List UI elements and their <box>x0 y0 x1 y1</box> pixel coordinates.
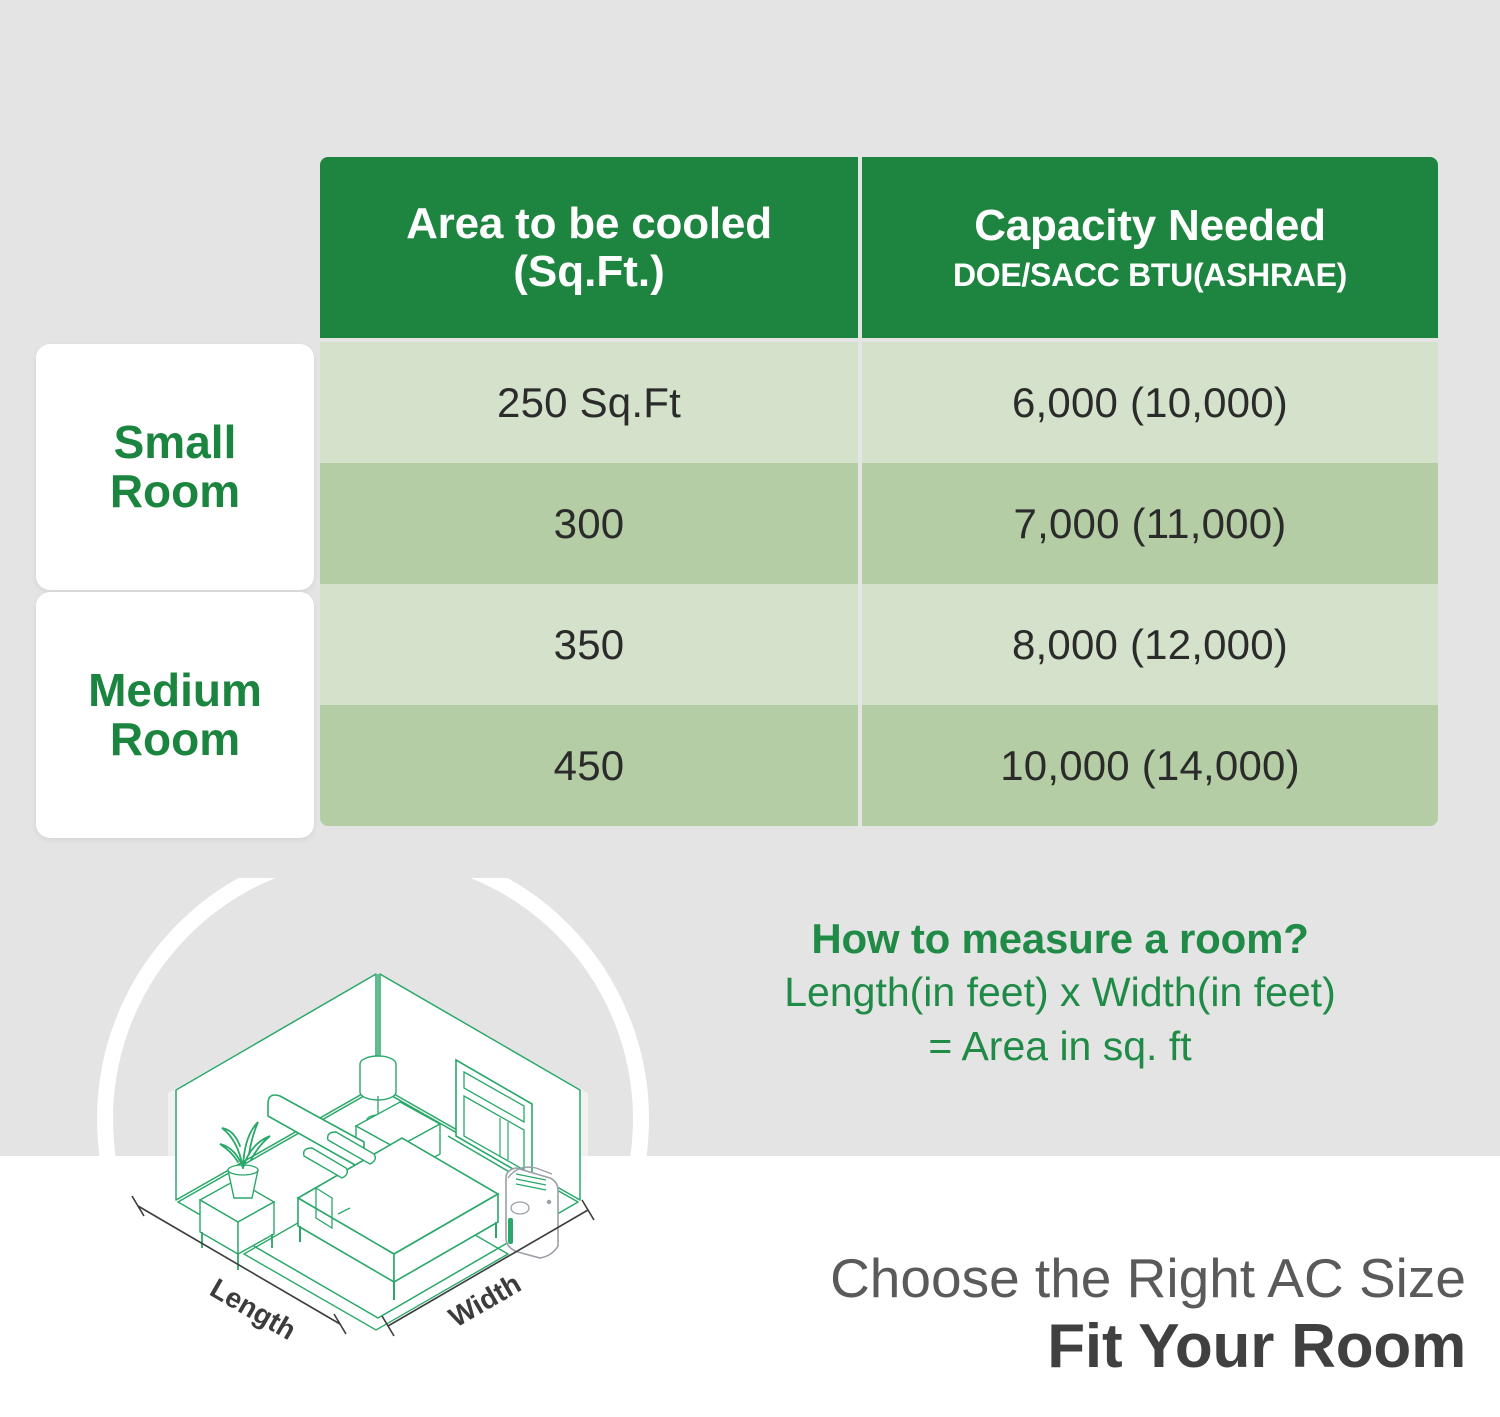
table-header-capacity: Capacity Needed DOE/SACC BTU(ASHRAE) <box>862 157 1438 338</box>
table-header-row: Area to be cooled (Sq.Ft.) Capacity Need… <box>320 157 1438 338</box>
room-type-label-small: Small Room <box>110 418 240 516</box>
headline-top: Choose the Right AC Size <box>0 1250 1466 1308</box>
cell-capacity: 7,000 (11,000) <box>862 463 1438 584</box>
room-type-small-line2: Room <box>110 465 240 517</box>
measure-formula-line1: Length(in feet) x Width(in feet) <box>660 967 1460 1017</box>
lamp-shade-body <box>360 1064 396 1100</box>
room-type-small-line1: Small <box>114 416 237 468</box>
table-row: 250 Sq.Ft 6,000 (10,000) <box>320 342 1438 463</box>
measure-title: How to measure a room? <box>660 915 1460 963</box>
room-type-medium-line1: Medium <box>88 664 262 716</box>
table-body: 250 Sq.Ft 6,000 (10,000) 300 7,000 (11,0… <box>320 342 1438 826</box>
portable-ac-button <box>547 1200 551 1204</box>
table-row: 350 8,000 (12,000) <box>320 584 1438 705</box>
cell-capacity: 6,000 (10,000) <box>862 342 1438 463</box>
room-type-medium-line2: Room <box>110 713 240 765</box>
cell-area: 250 Sq.Ft <box>320 342 858 463</box>
table-row: 450 10,000 (14,000) <box>320 705 1438 826</box>
measure-formula-line2: = Area in sq. ft <box>660 1021 1460 1071</box>
cell-capacity: 8,000 (12,000) <box>862 584 1438 705</box>
headline-bottom: Fit Your Room <box>0 1314 1466 1381</box>
capacity-table: Area to be cooled (Sq.Ft.) Capacity Need… <box>320 157 1438 826</box>
room-type-card-medium: Medium Room <box>36 592 314 838</box>
table-header-area-line1: Area to be cooled <box>406 200 772 248</box>
room-type-label-medium: Medium Room <box>88 666 262 764</box>
cell-area: 450 <box>320 705 858 826</box>
measure-instructions: How to measure a room? Length(in feet) x… <box>660 915 1460 1071</box>
portable-ac-indicator <box>508 1218 513 1244</box>
portable-ac-panel <box>511 1202 529 1214</box>
cell-area: 300 <box>320 463 858 584</box>
table-header-capacity-sublabel: DOE/SACC BTU(ASHRAE) <box>953 258 1347 293</box>
table-row: 300 7,000 (11,000) <box>320 463 1438 584</box>
cell-capacity: 10,000 (14,000) <box>862 705 1438 826</box>
cell-area: 350 <box>320 584 858 705</box>
table-header-area: Area to be cooled (Sq.Ft.) <box>320 157 858 338</box>
room-type-card-small: Small Room <box>36 344 314 590</box>
table-header-capacity-line1: Capacity Needed <box>974 202 1326 250</box>
table-header-area-line2: (Sq.Ft.) <box>513 248 665 296</box>
headline-block: Choose the Right AC Size Fit Your Room <box>0 1250 1466 1381</box>
